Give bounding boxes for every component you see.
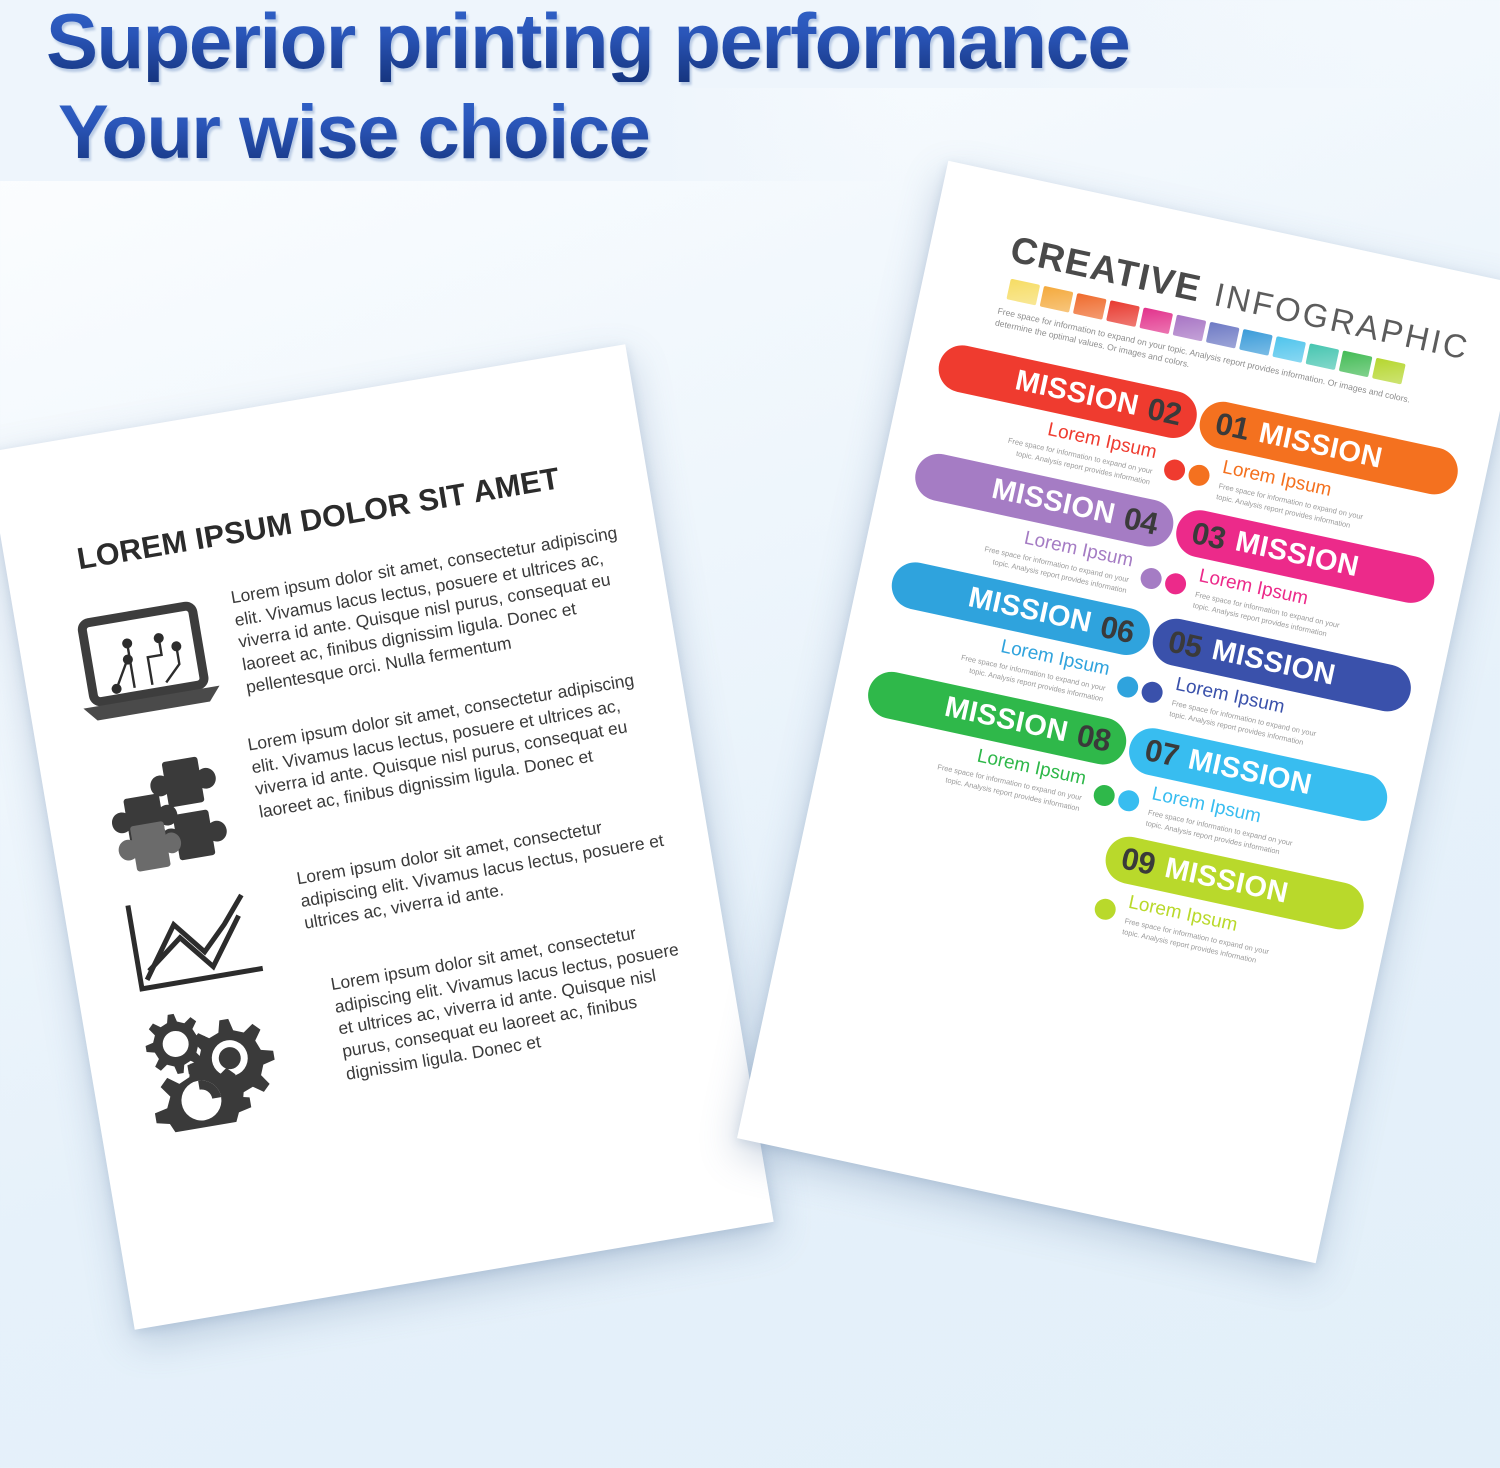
headline-line2: Your wise choice [58, 94, 910, 172]
mission-number: 06 [1097, 609, 1137, 651]
mission-bullet-dot [1162, 457, 1187, 482]
color-swatch [1006, 279, 1040, 306]
gears-icon [115, 980, 309, 1138]
mission-bullet-dot [1115, 674, 1140, 699]
printed-page-lorem-document: LOREM IPSUM DOLOR SIT AMET [0, 344, 774, 1330]
mission-bullet-dot [1092, 783, 1117, 808]
mission-number: 03 [1189, 515, 1229, 557]
mission-bullet-dot [1116, 788, 1141, 813]
mission-number: 09 [1118, 841, 1158, 883]
color-swatch [1306, 343, 1340, 370]
color-swatch [1139, 307, 1173, 334]
color-swatch [1106, 300, 1140, 327]
color-swatch [1173, 315, 1207, 342]
headline-line2-band: Your wise choice [0, 88, 910, 182]
color-swatch [1372, 358, 1406, 385]
mission-number: 07 [1142, 732, 1182, 774]
mission-number: 05 [1165, 623, 1205, 665]
color-swatch [1239, 329, 1273, 356]
section-text: Lorem ipsum dolor sit amet, consectetur … [246, 666, 660, 823]
laptop-circuit-icon [49, 588, 241, 730]
color-swatch [1339, 350, 1373, 377]
puzzle-pieces-icon [73, 734, 268, 897]
headline-line1-band: Superior printing performance [0, 0, 1430, 88]
color-swatch [1040, 286, 1074, 313]
mission-number: 04 [1121, 500, 1161, 542]
section-text: Lorem ipsum dolor sit amet, consectetur … [229, 520, 639, 698]
mission-number: 08 [1074, 717, 1114, 759]
mission-bullet-dot [1093, 897, 1118, 922]
color-swatch [1206, 322, 1240, 349]
headline-line1: Superior printing performance [46, 2, 1430, 82]
color-swatch [1272, 336, 1306, 363]
mission-number: 01 [1212, 406, 1252, 448]
color-swatch [1073, 293, 1107, 320]
mission-bullet-dot [1187, 462, 1212, 487]
marketing-headline: Superior printing performance Your wise … [0, 0, 1430, 181]
printed-page-infographic: CREATIVE INFOGRAPHIC Free space for info… [737, 161, 1500, 1264]
mission-bullet-dot [1140, 680, 1165, 705]
mission-bullet-dot [1163, 571, 1188, 596]
mission-number: 02 [1144, 391, 1184, 433]
mission-bullet-dot [1139, 566, 1164, 591]
